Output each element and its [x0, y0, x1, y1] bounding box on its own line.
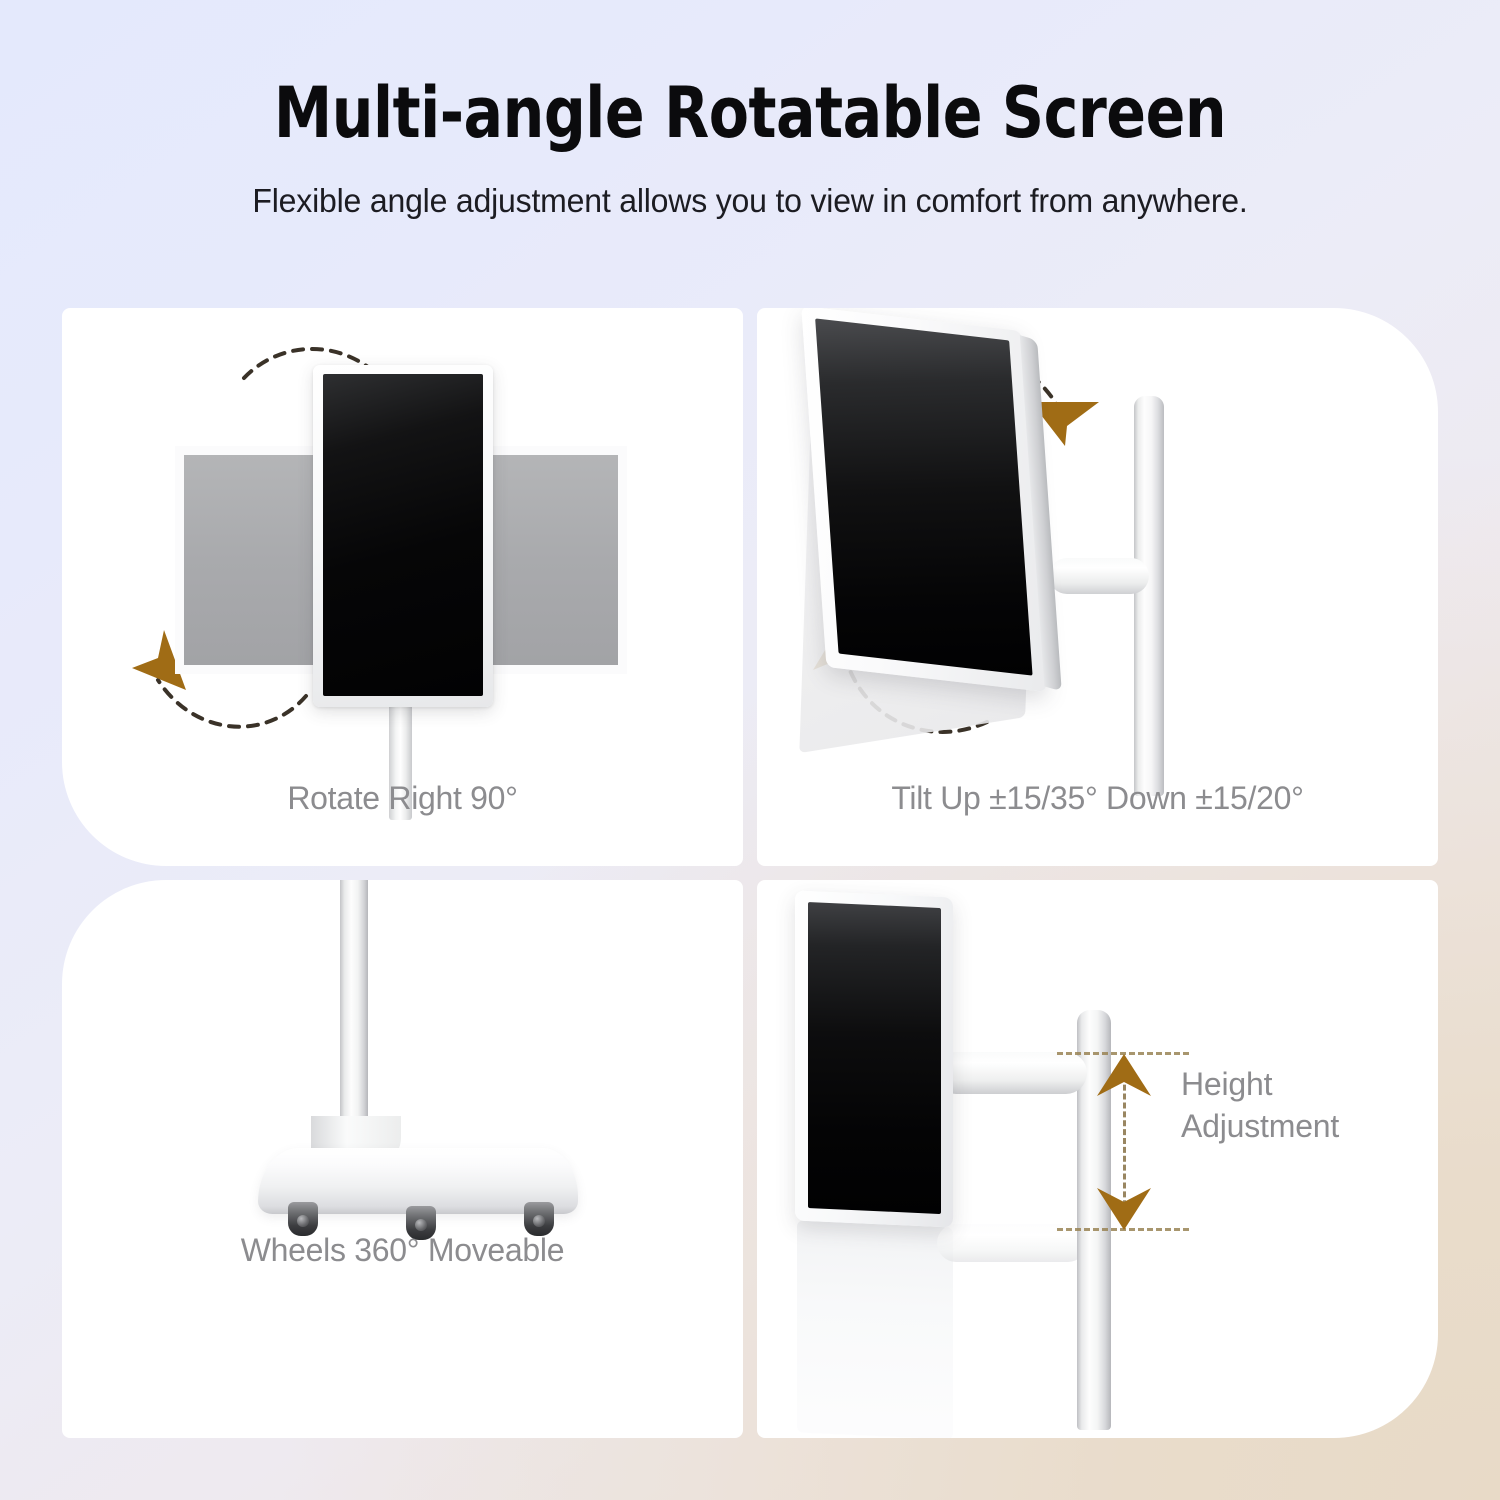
arrow-up-icon [1093, 1052, 1155, 1100]
stand-pole [1134, 396, 1164, 796]
caster-wheel-icon [288, 1202, 318, 1236]
panel-rotate: Rotate Right 90° [62, 308, 743, 866]
caster-wheel-icon [524, 1202, 554, 1236]
panel-wheels: Wheels 360° Moveable [62, 880, 743, 1438]
monitor-tilted-icon [801, 308, 1047, 692]
stand-pole [340, 880, 368, 1146]
monitor-lower-position-ghost [797, 1220, 953, 1438]
page-title: Multi-angle Rotatable Screen [53, 78, 1448, 148]
monitor-portrait-icon [313, 365, 493, 707]
panel-tilt: Tilt Up ±15/35° Down ±15/20° [757, 308, 1438, 866]
height-label-line2: Adjustment [1181, 1106, 1339, 1147]
feature-grid: Rotate Right 90° Tilt Up ±15/35° Down ±1… [62, 308, 1438, 1438]
screen-surface [808, 902, 941, 1214]
panel-caption-wheels: Wheels 360° Moveable [62, 1232, 743, 1269]
page-header: Multi-angle Rotatable Screen Flexible an… [0, 0, 1500, 220]
mount-arm [1049, 558, 1149, 594]
page-subtitle: Flexible angle adjustment allows you to … [23, 182, 1478, 220]
panel-height: Height Adjustment [757, 880, 1438, 1438]
mount-arm [935, 1052, 1087, 1094]
screen-surface [323, 374, 483, 696]
panel-caption-rotate: Rotate Right 90° [62, 780, 743, 817]
height-label-line1: Height [1181, 1064, 1272, 1105]
panel-caption-tilt: Tilt Up ±15/35° Down ±15/20° [757, 780, 1438, 817]
arrow-down-icon [1093, 1184, 1155, 1232]
rotation-ghost-left [184, 455, 334, 665]
screen-surface [815, 318, 1032, 675]
monitor-on-pole-icon [795, 890, 953, 1227]
